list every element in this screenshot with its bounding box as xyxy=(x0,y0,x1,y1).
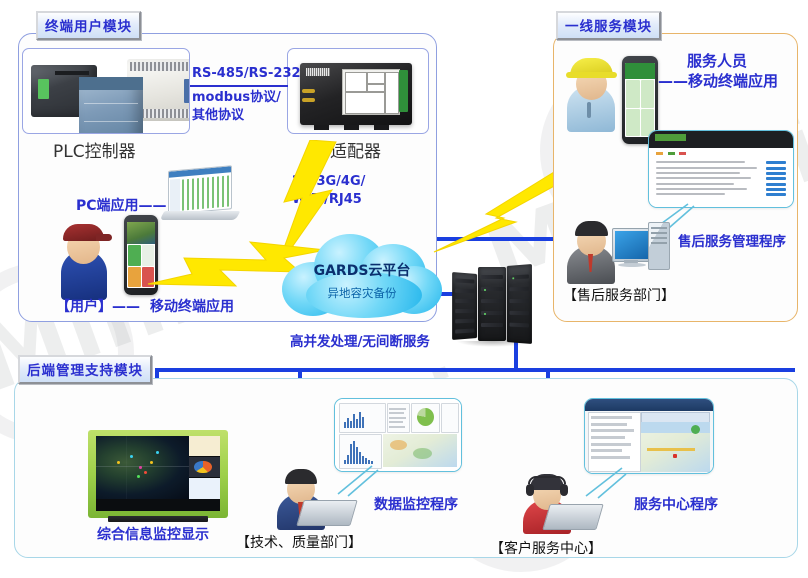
protocol-line-2: modbus协议/ xyxy=(192,86,281,105)
aftersales-program-label: 售后服务管理程序 xyxy=(678,230,786,250)
aftersales-screenshot-bubble xyxy=(648,130,794,208)
manager-hair xyxy=(575,221,608,236)
aftersales-tower-pc xyxy=(648,222,670,270)
protocol-line-1: RS-485/RS-232 xyxy=(192,66,301,81)
mobile-app-label: 移动终端应用 xyxy=(150,296,234,316)
data-monitor-program-label: 数据监控程序 xyxy=(374,494,458,514)
adapter-device-box xyxy=(287,48,429,134)
video-wall-caption: 综合信息监控显示 xyxy=(97,524,209,544)
service-center-bubble-tail xyxy=(584,466,628,500)
cloud-footnote: 高并发处理/无间断服务 xyxy=(290,330,430,350)
aftersales-admin-screenshot xyxy=(649,131,793,207)
module-label-frontline: 一线服务模块 xyxy=(556,11,661,40)
staff-label-line1: 服务人员 xyxy=(687,50,747,71)
cloud-name: GARDS云平台 xyxy=(314,263,411,279)
data-monitor-bubble xyxy=(334,398,462,472)
architecture-diagram: Minkei Minkei Minkei 终端用户模块 PLC控制器 xyxy=(0,0,808,578)
monitor-base xyxy=(618,263,646,267)
wire-corner xyxy=(791,368,795,372)
staff-label-line2: ——移动终端应用 xyxy=(658,70,778,91)
aftersales-department-label: 【售后服务部门】 xyxy=(563,285,675,305)
tech-hair xyxy=(285,469,317,484)
adapter-device xyxy=(300,63,412,125)
tech-laptop xyxy=(296,500,357,526)
module-label-terminal: 终端用户模块 xyxy=(36,11,141,40)
headset-earpiece-right xyxy=(560,484,568,496)
video-wall-screens xyxy=(96,436,219,498)
video-wall-map xyxy=(96,436,188,498)
module-label-backend: 后端管理支持模块 xyxy=(18,355,152,384)
avatar-user xyxy=(52,222,114,300)
plc-device-box xyxy=(22,48,190,134)
headset-earpiece-left xyxy=(526,484,534,496)
video-wall xyxy=(88,430,228,518)
pc-app-label: PC端应用—— xyxy=(76,195,167,215)
user-cap-brim xyxy=(96,234,112,241)
cloud-subtitle: 异地容灾备份 xyxy=(328,286,397,300)
plc-blue-module xyxy=(79,77,143,134)
plc-caption: PLC控制器 xyxy=(53,137,136,162)
avatar-service-staff xyxy=(560,56,622,132)
data-monitor-bubble-tail xyxy=(336,464,380,498)
protocol-line-3: 其他协议 xyxy=(192,104,244,123)
service-center-program-label: 服务中心程序 xyxy=(634,494,718,514)
lightning-bolt-cloud-frontline xyxy=(430,170,560,260)
cs-laptop xyxy=(542,504,603,530)
wire-backend-trunk xyxy=(155,368,795,372)
staff-zipper xyxy=(587,102,591,118)
customer-center-label: 【客户服务中心】 xyxy=(490,538,602,558)
user-label: 【用户】—— xyxy=(56,296,140,316)
staff-hardhat-brim xyxy=(566,72,617,78)
tech-department-label: 【技术、质量部门】 xyxy=(236,532,362,552)
server-rack xyxy=(452,265,532,343)
laptop-screen xyxy=(168,165,232,215)
headset-band xyxy=(528,476,566,484)
service-center-bubble xyxy=(584,398,714,474)
cloud-platform: GARDS云平台 异地容灾备份 xyxy=(282,232,442,324)
adapter-label-plate xyxy=(342,69,400,115)
